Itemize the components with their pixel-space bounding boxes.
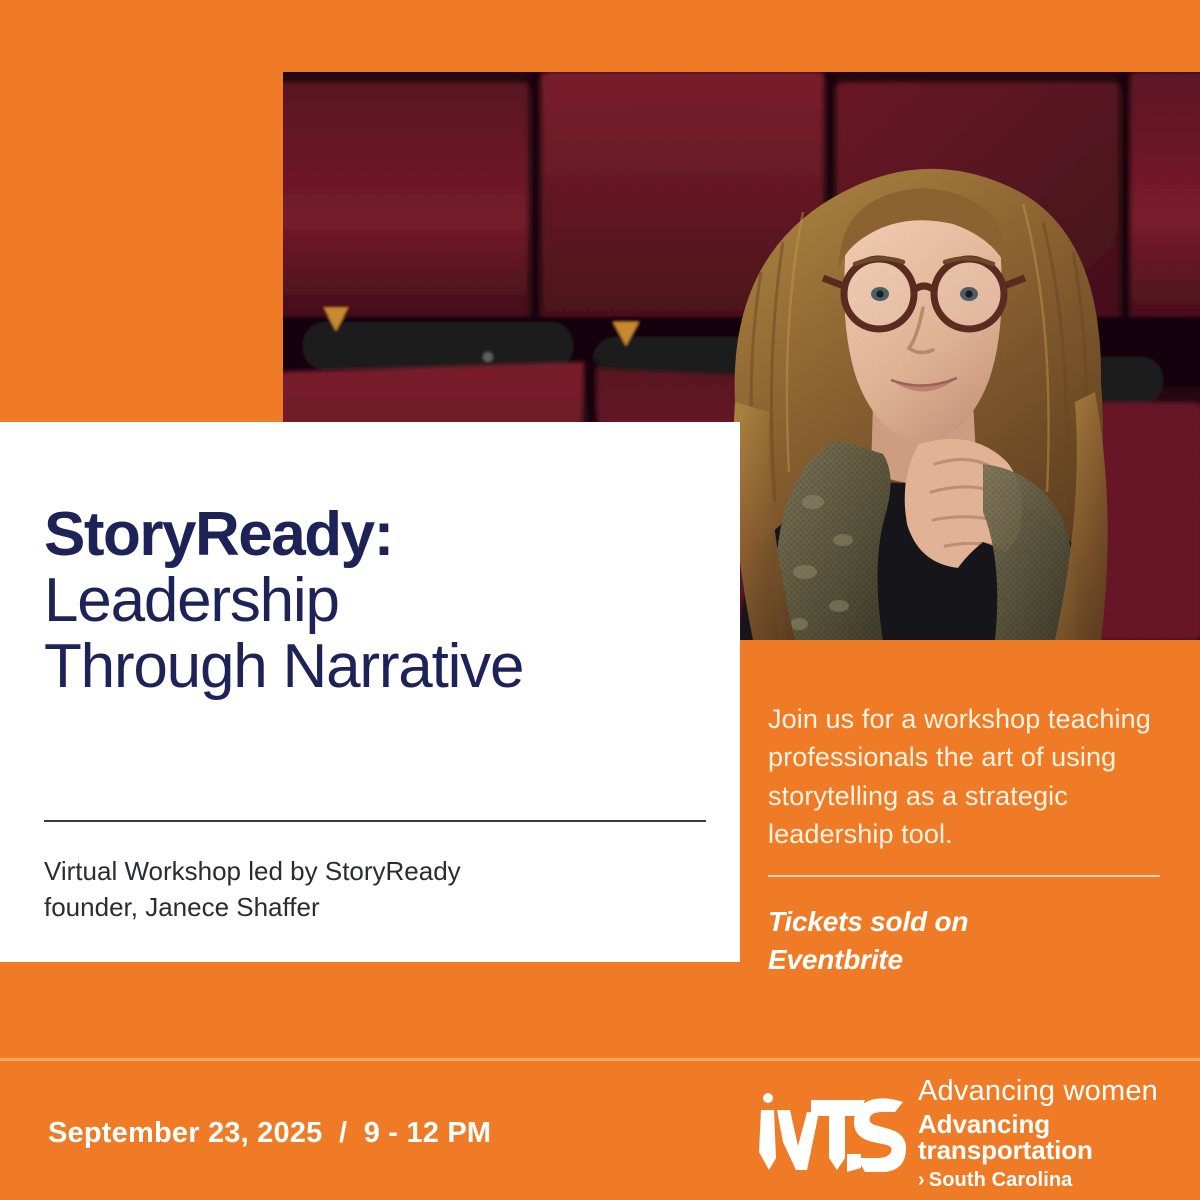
title-card: StoryReady: Leadership Through Narrative… (0, 422, 740, 962)
workshop-subtitle: Virtual Workshop led by StoryReady found… (44, 854, 706, 926)
tickets-line-2: Eventbrite (768, 941, 1168, 979)
promo-panel: Join us for a workshop teaching professi… (768, 700, 1168, 979)
promo-description: Join us for a workshop teaching professi… (768, 700, 1168, 853)
footer-bar: September 23, 2025 / 9 - 12 PM Advancing… (0, 1061, 1200, 1200)
title-line-1: StoryReady: (44, 504, 714, 566)
tagline-advancing-transportation: Advancing transportation (918, 1111, 1173, 1163)
event-datetime: September 23, 2025 / 9 - 12 PM (48, 1117, 491, 1150)
tagline-advancing-women: Advancing women (918, 1077, 1173, 1106)
chevron-right-icon: › (918, 1170, 925, 1190)
title-divider (44, 820, 706, 822)
title-line-2: Leadership (44, 570, 714, 632)
tickets-callout: Tickets sold on Eventbrite (768, 903, 1168, 979)
subtitle-line-1: Virtual Workshop led by StoryReady (44, 854, 706, 890)
chapter-name: ›South Carolina (918, 1170, 1173, 1190)
wts-logo: Advancing women Advancing transportation… (753, 1083, 1173, 1183)
subtitle-line-2: founder, Janece Shaffer (44, 890, 706, 926)
title-line-3: Through Narrative (44, 636, 714, 698)
wts-tagline: Advancing women Advancing transportation… (918, 1077, 1173, 1190)
chapter-label: South Carolina (929, 1169, 1073, 1191)
tickets-line-1: Tickets sold on (768, 903, 1168, 941)
page-title: StoryReady: Leadership Through Narrative (44, 504, 714, 698)
promo-divider (768, 875, 1160, 877)
wts-wordmark-icon (753, 1088, 908, 1178)
event-flyer: StoryReady: Leadership Through Narrative… (0, 0, 1200, 1200)
